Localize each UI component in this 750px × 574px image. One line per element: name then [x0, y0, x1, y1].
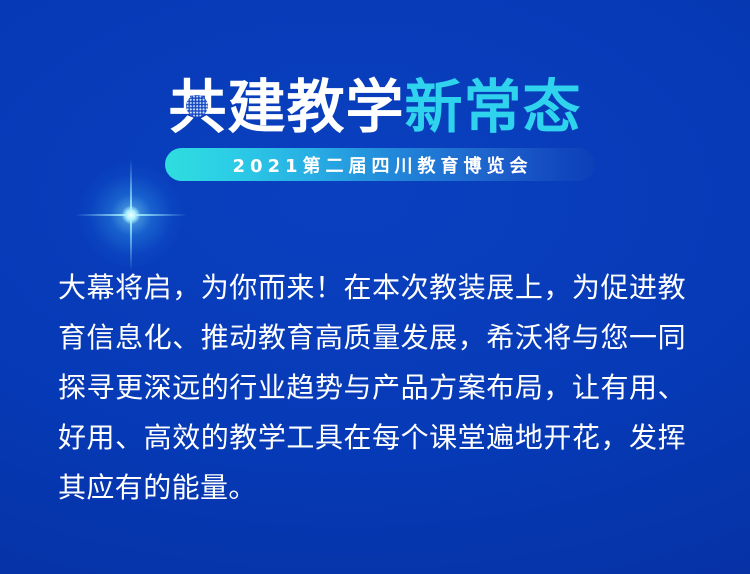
body-paragraph: 大幕将启，为你而来！在本次教装展上，为促进教育信息化、推动教育高质量发展，希沃将… [58, 263, 686, 513]
promotional-poster: 共建教学新常态 2021第二届四川教育博览会 大幕将启，为你而来！在本次教装展上… [0, 0, 750, 574]
sparkle-core [122, 206, 140, 224]
headline-accent-text: 新常态 [405, 73, 582, 141]
subtitle-banner: 2021第二届四川教育博览会 [165, 148, 595, 181]
headline-block: 共建教学新常态 [0, 76, 750, 138]
sparkle-ray-horizontal [75, 214, 187, 216]
sparkle-ray-vertical [130, 159, 132, 271]
halftone-dot-icon [186, 95, 208, 117]
subtitle-text: 2021第二届四川教育博览会 [227, 152, 532, 178]
page-title: 共建教学新常态 [0, 76, 750, 138]
sparkle-halo [79, 163, 183, 267]
